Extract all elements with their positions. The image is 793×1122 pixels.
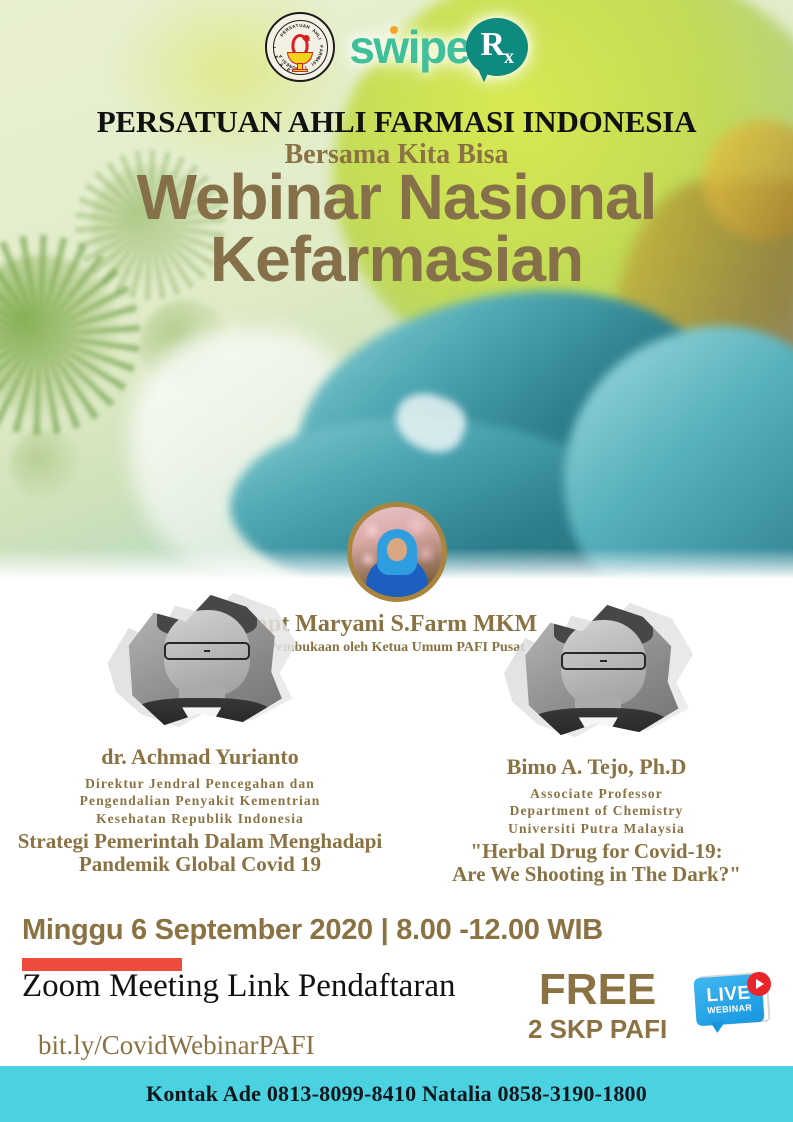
skp-credits-label: 2 SKP PAFI (528, 1016, 667, 1042)
logo-row: PERSATUAN AHLI FARMASI INDONESIAP A F I … (0, 8, 793, 86)
main-title-line1: Webinar Nasional (0, 166, 793, 228)
speaker-block-left: dr. Achmad Yurianto Direktur Jendral Pen… (0, 580, 400, 877)
live-webinar-badge-icon: LIVE WEBINAR (695, 972, 773, 1034)
speaker-topic-right: "Herbal Drug for Covid-19: Are We Shooti… (400, 840, 793, 887)
speaker-topic-left: Strategi Pemerintah Dalam Menghadapi Pan… (0, 830, 400, 877)
swipe-dot-icon (390, 26, 398, 34)
speaker-affiliation-right: Associate Professor Department of Chemis… (400, 785, 793, 837)
pafi-foot-icon (292, 69, 308, 72)
webinar-poster: PERSATUAN AHLI FARMASI INDONESIAP A F I … (0, 0, 793, 1122)
speaker-name-right: Bimo A. Tejo, Ph.D (400, 754, 793, 780)
registration-link[interactable]: bit.ly/CovidWebinarPAFI (38, 1030, 315, 1061)
swiperx-logo-icon: swipe Rx (349, 18, 527, 76)
rx-letter: Rx (480, 28, 513, 67)
speaker-photo-right (492, 590, 702, 750)
rx-bubble-icon: Rx (466, 18, 528, 76)
contact-bar: Kontak Ade 0813-8099-8410 Natalia 0858-3… (0, 1066, 793, 1122)
schedule-date-time: Minggu 6 September 2020 | 8.00 -12.00 WI… (22, 914, 603, 947)
speaker-name-left: dr. Achmad Yurianto (0, 744, 400, 770)
pafi-logo-icon: PERSATUAN AHLI FARMASI INDONESIAP A F I (265, 12, 335, 82)
play-icon (747, 972, 771, 996)
main-title-line2: Kefarmasian (0, 228, 793, 290)
glasses-icon (561, 652, 646, 670)
badge-webinar-label: WEBINAR (707, 1002, 753, 1017)
speaker-affiliation-left: Direktur Jendral Pencegahan dan Pengenda… (0, 775, 400, 827)
virus-particle-icon (10, 430, 80, 500)
swipe-wordmark: swipe (349, 24, 469, 70)
glasses-icon (164, 642, 249, 660)
rx-subscript: x (504, 45, 513, 67)
pricing-block: FREE 2 SKP PAFI (528, 968, 667, 1042)
registration-label: Zoom Meeting Link Pendaftaran (22, 968, 455, 1005)
speaker-block-right: Bimo A. Tejo, Ph.D Associate Professor D… (400, 590, 793, 887)
page-title: Webinar Nasional Kefarmasian (0, 166, 793, 290)
avatar-face (387, 538, 407, 561)
free-label: FREE (528, 968, 667, 1012)
pafi-logo-inner: PERSATUAN AHLI FARMASI INDONESIAP A F I (273, 20, 328, 75)
organization-title: PERSATUAN AHLI FARMASI INDONESIA (0, 104, 793, 140)
contact-text: Kontak Ade 0813-8099-8410 Natalia 0858-3… (146, 1081, 647, 1107)
speaker-photo-left (95, 580, 305, 740)
